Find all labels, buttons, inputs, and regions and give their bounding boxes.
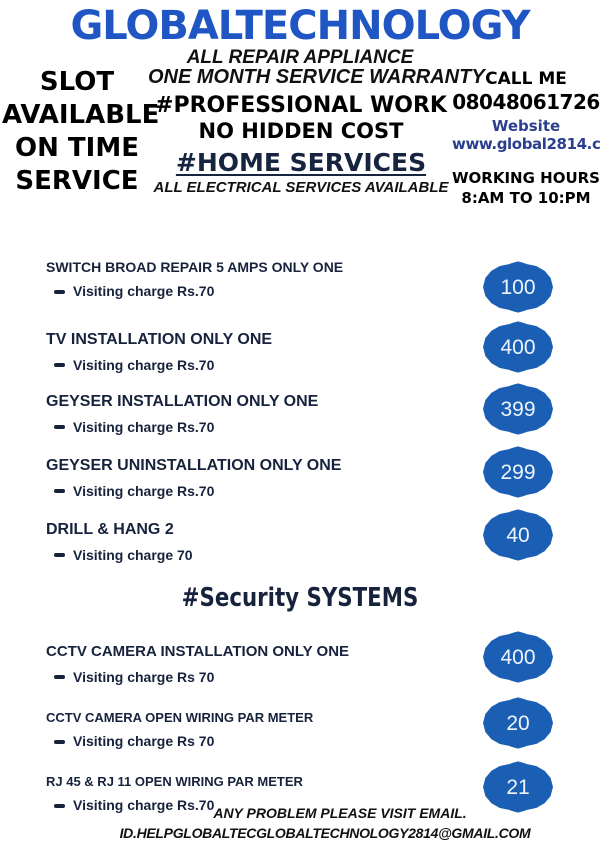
service-title: TV INSTALLATION ONLY ONE (46, 331, 446, 349)
price-value: 40 (506, 525, 529, 546)
visiting-charge-text: Visiting charge Rs 70 (73, 670, 214, 685)
working-hours-label: WORKING HOURS (452, 170, 600, 187)
service-title: CCTV CAMERA OPEN WIRING PAR METER (46, 711, 446, 725)
visiting-charge-text: Visiting charge Rs.70 (73, 284, 214, 299)
dash-icon (54, 290, 65, 294)
service-row: GEYSER UNINSTALLATION ONLY ONE Visiting … (46, 457, 446, 499)
footer-email-address[interactable]: ID.HELPGLOBALTECGLOBALTECHNOLOGY2814@GMA… (90, 826, 560, 841)
service-title: GEYSER INSTALLATION ONLY ONE (46, 393, 446, 411)
visiting-charge-text: Visiting charge Rs 70 (73, 734, 214, 749)
service-visiting-charge: Visiting charge 70 (54, 548, 446, 563)
dash-icon (54, 363, 65, 367)
price-value: 299 (500, 462, 535, 483)
phone-number[interactable]: 08048061726 (452, 91, 600, 113)
price-badge: 400 (483, 312, 553, 382)
service-title: RJ 45 & RJ 11 OPEN WIRING PAR METER (46, 775, 446, 789)
professional-work-text: #PROFESSIONAL WORK (148, 94, 454, 117)
visiting-charge-text: Visiting charge Rs.70 (73, 358, 214, 373)
price-value: 20 (506, 713, 529, 734)
service-title: SWITCH BROAD REPAIR 5 AMPS ONLY ONE (46, 260, 446, 275)
dash-icon (54, 804, 65, 808)
dash-icon (54, 553, 65, 557)
dash-icon (54, 489, 65, 493)
flyer-page: GLOBALTECHNOLOGY ALL REPAIR APPLIANCE SL… (0, 0, 600, 849)
electrical-services-text: ALL ELECTRICAL SERVICES AVAILABLE (148, 180, 454, 196)
footer-problem-text: ANY PROBLEM PLEASE VISIT EMAIL. (130, 806, 550, 821)
visiting-charge-text: Visiting charge 70 (73, 548, 193, 563)
website-label: Website (452, 118, 600, 135)
warranty-text: ONE MONTH SERVICE WARRANTY (148, 66, 454, 88)
slot-line-4: SERVICE (2, 165, 152, 198)
service-visiting-charge: Visiting charge Rs 70 (54, 734, 446, 749)
service-visiting-charge: Visiting charge Rs.70 (54, 484, 446, 499)
service-visiting-charge: Visiting charge Rs 70 (54, 670, 446, 685)
brand-title: GLOBALTECHNOLOGY (0, 6, 600, 46)
service-visiting-charge: Visiting charge Rs.70 (54, 420, 446, 435)
slot-line-1: SLOT (2, 66, 152, 99)
service-visiting-charge: Visiting charge Rs.70 (54, 358, 446, 373)
header-center-column: ONE MONTH SERVICE WARRANTY #PROFESSIONAL… (148, 66, 454, 196)
dash-icon (54, 740, 65, 744)
price-badge: 400 (483, 622, 553, 692)
visiting-charge-text: Visiting charge Rs.70 (73, 484, 214, 499)
price-value: 100 (500, 277, 535, 298)
service-title: CCTV CAMERA INSTALLATION ONLY ONE (46, 644, 446, 661)
price-badge: 399 (483, 374, 553, 444)
price-badge: 100 (483, 252, 553, 322)
service-visiting-charge: Visiting charge Rs.70 (54, 284, 446, 299)
price-badge: 20 (483, 688, 553, 758)
price-value: 399 (500, 399, 535, 420)
dash-icon (54, 675, 65, 679)
price-badge: 299 (483, 437, 553, 507)
header-right-column: CALL ME 08048061726 Website www.global28… (452, 70, 600, 207)
visiting-charge-text: Visiting charge Rs.70 (73, 420, 214, 435)
service-title: DRILL & HANG 2 (46, 521, 446, 539)
service-row: GEYSER INSTALLATION ONLY ONE Visiting ch… (46, 393, 446, 435)
price-badge: 40 (483, 500, 553, 570)
service-row: CCTV CAMERA INSTALLATION ONLY ONE Visiti… (46, 644, 446, 685)
price-value: 400 (500, 647, 535, 668)
call-me-label: CALL ME (452, 70, 600, 89)
slot-line-2: AVAILABLE (2, 99, 152, 132)
no-hidden-cost-text: NO HIDDEN COST (148, 120, 454, 142)
service-row: SWITCH BROAD REPAIR 5 AMPS ONLY ONE Visi… (46, 260, 446, 300)
header-left-column: SLOT AVAILABLE ON TIME SERVICE (2, 66, 152, 198)
working-hours-value: 8:AM TO 10:PM (452, 190, 600, 207)
slot-line-3: ON TIME (2, 132, 152, 165)
security-systems-heading: #Security SYSTEMS (54, 585, 546, 611)
brand-tagline: ALL REPAIR APPLIANCE (0, 48, 600, 67)
website-url[interactable]: www.global2814.com (452, 136, 600, 153)
service-row: CCTV CAMERA OPEN WIRING PAR METER Visiti… (46, 711, 446, 750)
price-value: 400 (500, 337, 535, 358)
home-services-heading: #HOME SERVICES (148, 150, 454, 176)
service-title: GEYSER UNINSTALLATION ONLY ONE (46, 457, 446, 475)
price-value: 21 (506, 777, 529, 798)
service-row: DRILL & HANG 2 Visiting charge 70 (46, 521, 446, 563)
service-row: TV INSTALLATION ONLY ONE Visiting charge… (46, 331, 446, 373)
dash-icon (54, 425, 65, 429)
